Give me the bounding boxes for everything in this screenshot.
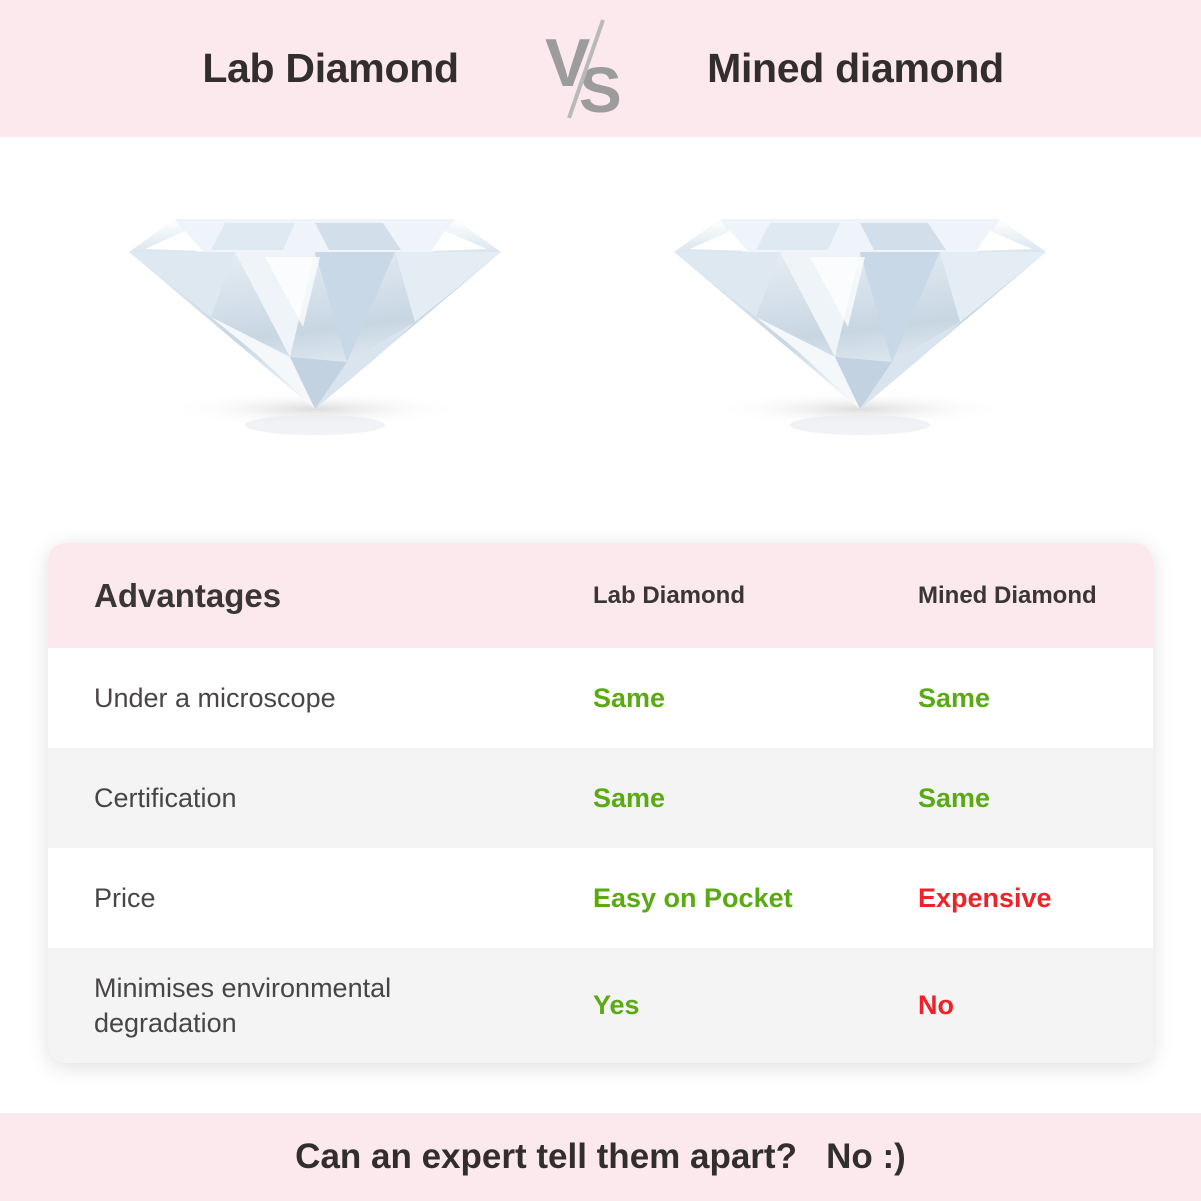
table-row: Price Easy on Pocket Expensive <box>48 848 1153 948</box>
header-cell-advantages: Advantages <box>48 543 541 648</box>
row-mined-value: Same <box>918 683 990 714</box>
header-label-lab: Lab Diamond <box>593 582 745 610</box>
header-label-mined: Mined Diamond <box>918 582 1097 610</box>
lab-diamond-title: Lab Diamond <box>131 45 531 92</box>
row-mined-cell: No <box>872 948 1153 1063</box>
diamond-images-area <box>0 137 1201 537</box>
row-lab-cell: Same <box>541 648 872 748</box>
row-label-cell: Under a microscope <box>48 648 541 748</box>
infographic-page: Lab Diamond V S Mined diamond <box>0 0 1201 1201</box>
mined-diamond-title: Mined diamond <box>641 45 1071 92</box>
row-mined-value: No <box>918 990 954 1021</box>
row-lab-cell: Same <box>541 748 872 848</box>
row-lab-value: Same <box>593 683 665 714</box>
row-label: Certification <box>94 781 237 815</box>
header-cell-lab: Lab Diamond <box>541 543 872 648</box>
table-row: Under a microscope Same Same <box>48 648 1153 748</box>
comparison-table: Advantages Lab Diamond Mined Diamond Und… <box>48 543 1153 1063</box>
footer-banner: Can an expert tell them apart? No :) <box>0 1113 1201 1201</box>
header-label-advantages: Advantages <box>94 577 281 615</box>
table-row: Certification Same Same <box>48 748 1153 848</box>
footer-question: Can an expert tell them apart? No :) <box>295 1137 906 1177</box>
svg-text:S: S <box>579 54 622 124</box>
row-lab-cell: Yes <box>541 948 872 1063</box>
row-mined-cell: Expensive <box>872 848 1153 948</box>
top-banner: Lab Diamond V S Mined diamond <box>0 0 1201 137</box>
row-lab-value: Easy on Pocket <box>593 883 793 914</box>
versus-icon: V S <box>531 14 641 124</box>
lab-diamond-image <box>115 157 515 457</box>
row-label: Minimises environmental degradation <box>94 971 527 1039</box>
row-lab-value: Same <box>593 783 665 814</box>
row-lab-cell: Easy on Pocket <box>541 848 872 948</box>
row-lab-value: Yes <box>593 990 640 1021</box>
row-label-cell: Minimises environmental degradation <box>48 948 541 1063</box>
row-label: Price <box>94 881 156 915</box>
row-mined-cell: Same <box>872 748 1153 848</box>
table-header-row: Advantages Lab Diamond Mined Diamond <box>48 543 1153 648</box>
row-label-cell: Certification <box>48 748 541 848</box>
header-cell-mined: Mined Diamond <box>872 543 1153 648</box>
row-mined-cell: Same <box>872 648 1153 748</box>
mined-diamond-image <box>660 157 1060 457</box>
row-mined-value: Expensive <box>918 883 1052 914</box>
row-label: Under a microscope <box>94 681 336 715</box>
row-mined-value: Same <box>918 783 990 814</box>
table-row: Minimises environmental degradation Yes … <box>48 948 1153 1063</box>
row-label-cell: Price <box>48 848 541 948</box>
